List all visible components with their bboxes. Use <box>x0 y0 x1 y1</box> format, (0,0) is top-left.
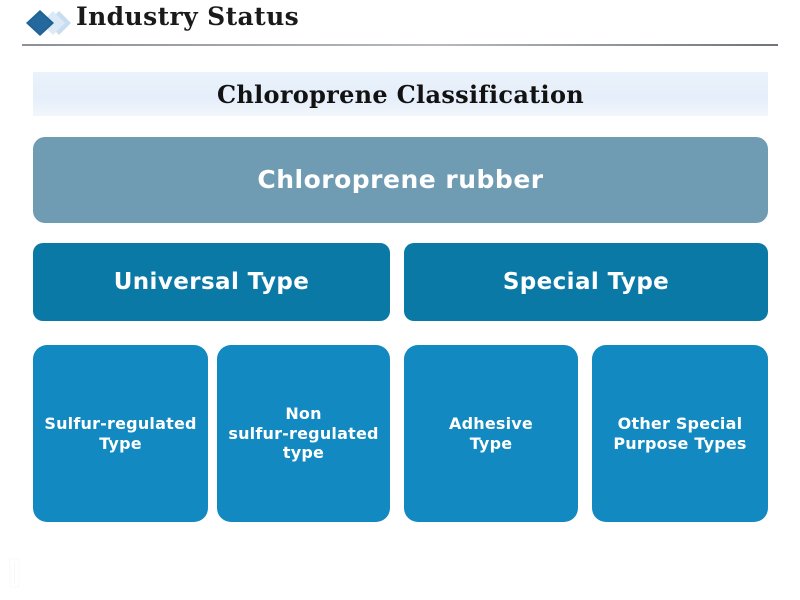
node-label: Chloroprene rubber <box>41 165 760 196</box>
classification-banner: Chloroprene Classification <box>33 72 768 116</box>
node-label: Special Type <box>412 268 760 296</box>
node-special-type: Special Type <box>404 243 768 321</box>
node-chloroprene-rubber: Chloroprene rubber <box>33 137 768 223</box>
corner-artifact <box>8 558 22 588</box>
page-title: Industry Status <box>76 2 299 31</box>
slide-header: Industry Status <box>0 0 800 48</box>
node-non-sulfur-regulated-type: Non sulfur-regulated type <box>217 345 390 522</box>
node-label: Other Special Purpose Types <box>600 414 760 453</box>
node-label: Sulfur-regulated Type <box>41 414 200 453</box>
node-sulfur-regulated-type: Sulfur-regulated Type <box>33 345 208 522</box>
node-other-special-purpose-types: Other Special Purpose Types <box>592 345 768 522</box>
node-label: Adhesive Type <box>412 414 570 453</box>
node-label: Non sulfur-regulated type <box>225 404 382 463</box>
node-label: Universal Type <box>41 268 382 296</box>
header-divider <box>22 44 778 46</box>
diamond-icon <box>25 8 73 38</box>
node-universal-type: Universal Type <box>33 243 390 321</box>
classification-banner-label: Chloroprene Classification <box>217 80 584 109</box>
node-adhesive-type: Adhesive Type <box>404 345 578 522</box>
